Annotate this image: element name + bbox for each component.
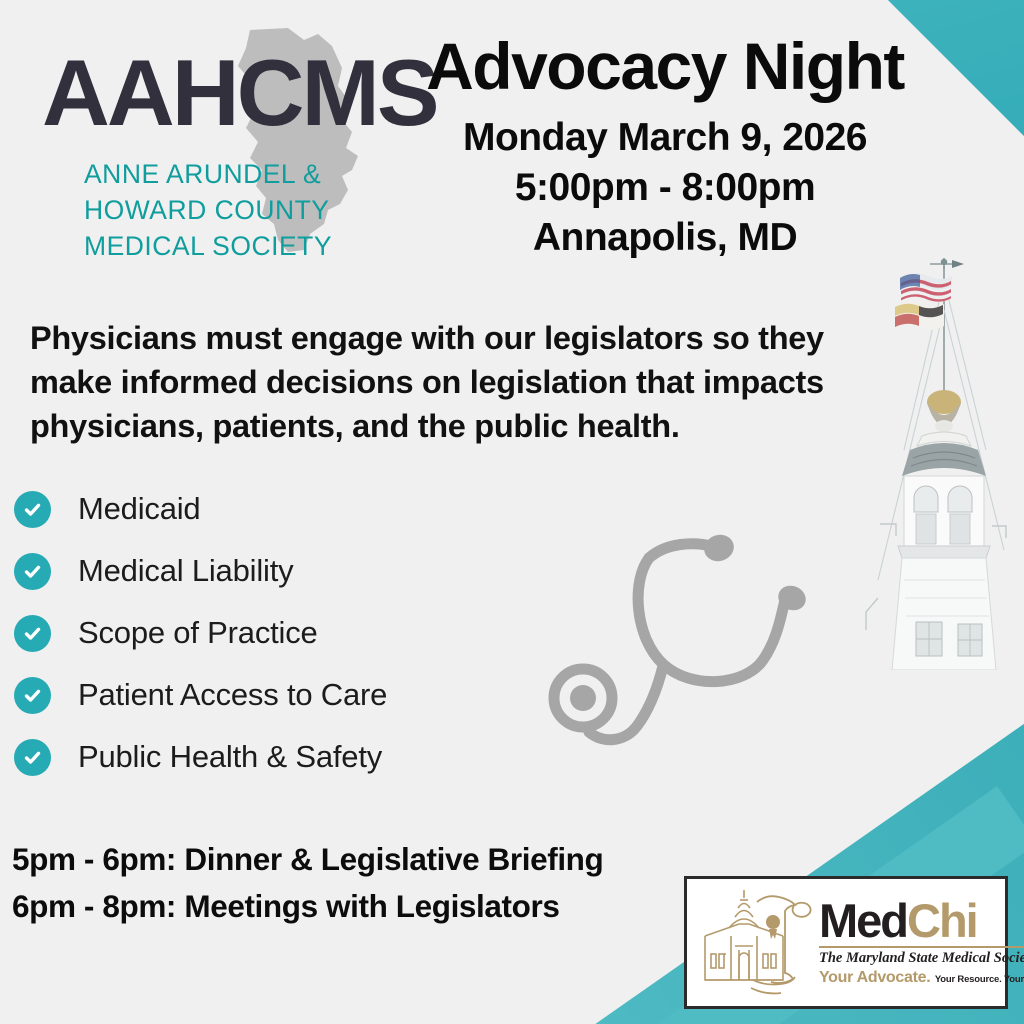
logo-subtitle: ANNE ARUNDEL & HOWARD COUNTY MEDICAL SOC… xyxy=(84,156,394,264)
stethoscope-icon xyxy=(545,520,845,750)
event-time: 5:00pm - 8:00pm xyxy=(400,163,930,213)
medchi-logo: MedChi The Maryland State Medical Societ… xyxy=(684,876,1008,1009)
medchi-wordmark-part-1: Med xyxy=(819,894,907,947)
event-location: Annapolis, MD xyxy=(400,213,930,263)
list-item: Public Health & Safety xyxy=(14,726,534,788)
list-item: Medical Liability xyxy=(14,540,534,602)
advocacy-night-flyer: AAHCMS ANNE ARUNDEL & HOWARD COUNTY MEDI… xyxy=(0,0,1024,1024)
check-circle-icon xyxy=(14,491,51,528)
check-circle-icon xyxy=(14,677,51,714)
list-item-label: Patient Access to Care xyxy=(78,677,387,713)
list-item-label: Medicaid xyxy=(78,491,200,527)
issues-checklist: Medicaid Medical Liability Scope of Prac… xyxy=(14,478,534,788)
logo-subtitle-line-1: ANNE ARUNDEL & xyxy=(84,156,394,192)
medchi-wordmark-part-2: Chi xyxy=(907,894,977,947)
event-header: Advocacy Night Monday March 9, 2026 5:00… xyxy=(400,32,930,263)
event-date: Monday March 9, 2026 xyxy=(400,113,930,163)
medchi-slogan-lead: Your Advocate. xyxy=(819,969,930,986)
medchi-slogan: Your Advocate. Your Resource. Your Profe… xyxy=(819,969,1024,987)
list-item: Medicaid xyxy=(14,478,534,540)
statehouse-scroll-seal-icon xyxy=(695,884,815,1002)
medchi-wordmark: MedChi xyxy=(819,898,1024,943)
list-item-label: Scope of Practice xyxy=(78,615,318,651)
medchi-tagline: The Maryland State Medical Society xyxy=(819,950,1024,967)
list-item-label: Public Health & Safety xyxy=(78,739,382,775)
list-item: Scope of Practice xyxy=(14,602,534,664)
logo-subtitle-line-3: MEDICAL SOCIETY xyxy=(84,228,394,264)
medchi-slogan-rest: Your Resource. Your Profession. xyxy=(935,974,1024,985)
schedule-line-1: 5pm - 6pm: Dinner & Legislative Briefing xyxy=(12,836,712,883)
event-details: Monday March 9, 2026 5:00pm - 8:00pm Ann… xyxy=(400,113,930,263)
check-circle-icon xyxy=(14,615,51,652)
list-item: Patient Access to Care xyxy=(14,664,534,726)
schedule-line-2: 6pm - 8pm: Meetings with Legislators xyxy=(12,883,712,930)
logo-subtitle-line-2: HOWARD COUNTY xyxy=(84,192,394,228)
check-circle-icon xyxy=(14,553,51,590)
check-circle-icon xyxy=(14,739,51,776)
aahcms-logo: AAHCMS ANNE ARUNDEL & HOWARD COUNTY MEDI… xyxy=(42,28,392,253)
logo-wordmark: AAHCMS xyxy=(42,50,392,136)
maryland-state-house-dome-photo xyxy=(818,250,1024,670)
body-paragraph: Physicians must engage with our legislat… xyxy=(30,316,875,449)
list-item-label: Medical Liability xyxy=(78,553,293,589)
page-title: Advocacy Night xyxy=(400,32,930,101)
agenda-schedule: 5pm - 6pm: Dinner & Legislative Briefing… xyxy=(12,836,712,931)
medchi-text-block: MedChi The Maryland State Medical Societ… xyxy=(815,898,1024,987)
